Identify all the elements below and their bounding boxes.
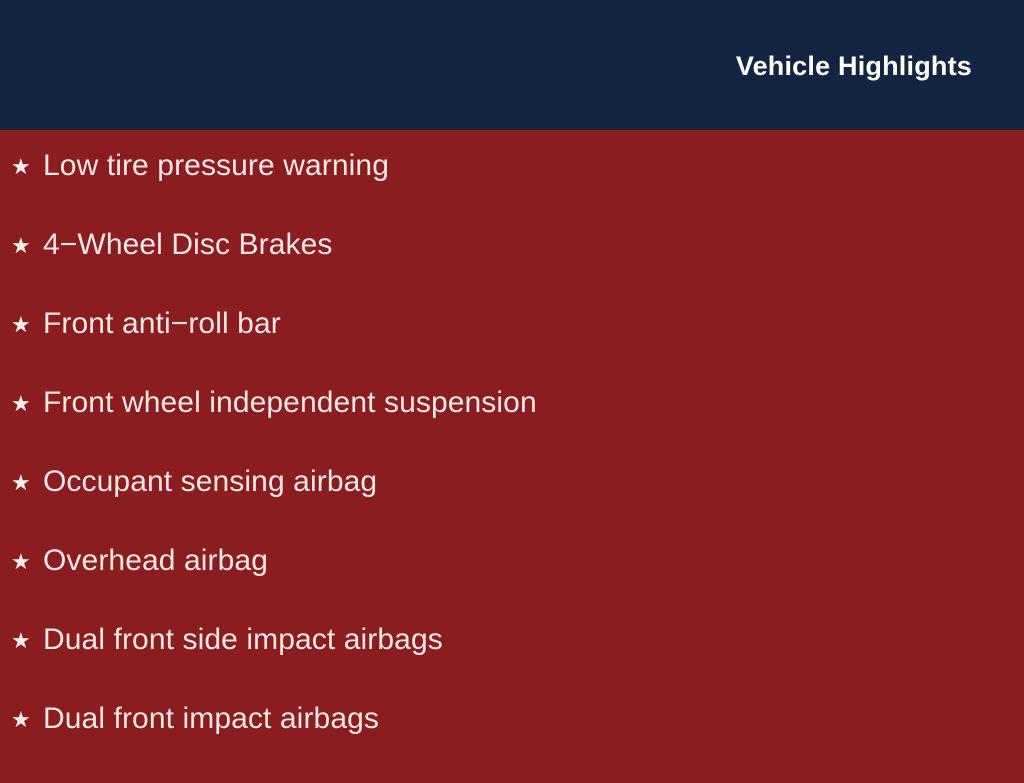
list-item: ★ Overhead airbag [0, 546, 1024, 625]
feature-label: Front wheel independent suspension [43, 388, 537, 418]
feature-label: Dual front impact airbags [43, 704, 379, 734]
list-item: ★ Occupant sensing airbag [0, 467, 1024, 546]
list-item: ★ Front wheel independent suspension [0, 388, 1024, 467]
page-title: Vehicle Highlights [736, 53, 972, 80]
list-item: ★ Dual front side impact airbags [0, 625, 1024, 704]
slide-body: ★ Low tire pressure warning ★ 4−Wheel Di… [0, 130, 1024, 768]
list-item: ★ Dual front impact airbags [0, 704, 1024, 783]
feature-label: Occupant sensing airbag [43, 467, 377, 497]
feature-label: 4−Wheel Disc Brakes [43, 230, 333, 260]
feature-label: Dual front side impact airbags [43, 625, 443, 655]
star-icon: ★ [11, 235, 43, 257]
star-icon: ★ [11, 709, 43, 731]
star-icon: ★ [11, 630, 43, 652]
list-item: ★ Front anti−roll bar [0, 309, 1024, 388]
vehicle-highlights-slide: Vehicle Highlights ★ Low tire pressure w… [0, 0, 1024, 768]
star-icon: ★ [11, 156, 43, 178]
star-icon: ★ [11, 551, 43, 573]
star-icon: ★ [11, 393, 43, 415]
feature-label: Overhead airbag [43, 546, 268, 576]
feature-label: Low tire pressure warning [43, 151, 389, 181]
star-icon: ★ [11, 472, 43, 494]
list-item: ★ 4−Wheel Disc Brakes [0, 230, 1024, 309]
list-item: ★ Low tire pressure warning [0, 151, 1024, 230]
vehicle-feature-list: ★ Low tire pressure warning ★ 4−Wheel Di… [0, 151, 1024, 783]
feature-label: Front anti−roll bar [43, 309, 281, 339]
star-icon: ★ [11, 314, 43, 336]
slide-header: Vehicle Highlights [0, 0, 1024, 130]
